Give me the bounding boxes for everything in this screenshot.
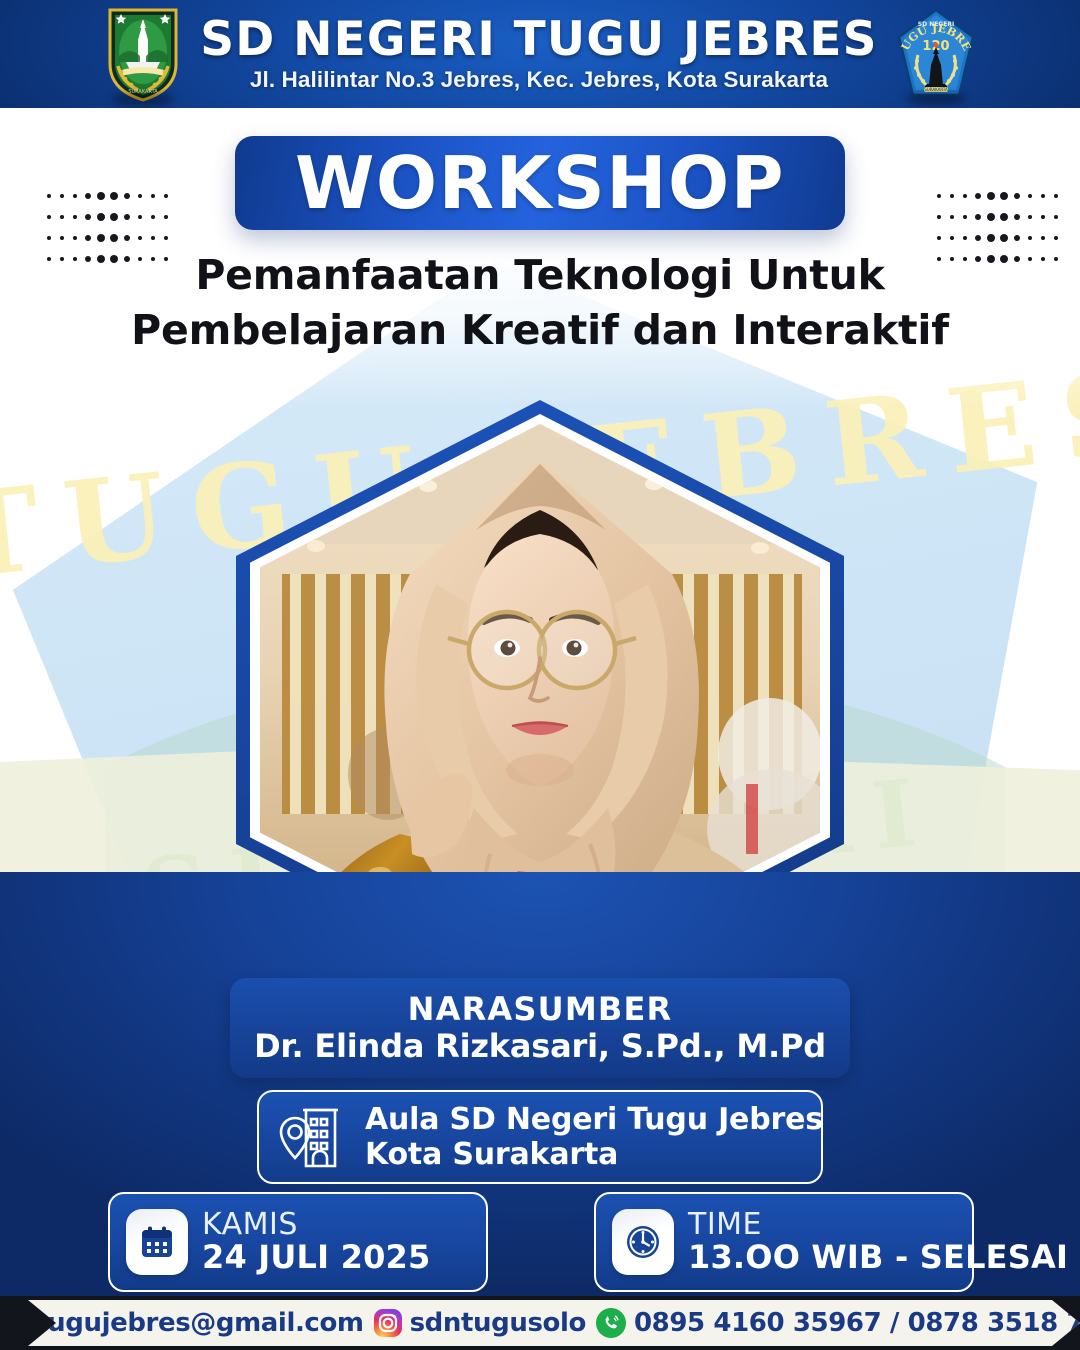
- footer-contact-bar: sdntugujebres@gmail.com sdnt: [0, 1300, 1080, 1346]
- school-header-bar: SURAKARTA SD NEGERI TUGU JEBRES Jl. Hali…: [0, 0, 1080, 108]
- clock-icon-badge: [612, 1209, 674, 1275]
- venue-text-block: Aula SD Negeri Tugu Jebres Kota Surakart…: [365, 1102, 823, 1173]
- tugu-jebres-school-logo-icon: SD NEGERI TUGU JEBRES 120: [896, 7, 976, 101]
- workshop-badge-label: WORKSHOP: [295, 147, 785, 219]
- time-text-block: TIME 13.OO WIB - SELESAI: [688, 1209, 1068, 1275]
- subtitle-line-2: Pembelajaran Kreatif dan Interaktif: [0, 303, 1080, 358]
- footer-instagram[interactable]: sdntugusolo: [373, 1308, 586, 1338]
- venue-line-1: Aula SD Negeri Tugu Jebres: [365, 1102, 823, 1137]
- venue-line-2: Kota Surakarta: [365, 1137, 823, 1172]
- school-address: Jl. Halilintar No.3 Jebres, Kec. Jebres,…: [250, 69, 828, 92]
- calendar-icon-badge: [126, 1209, 188, 1275]
- date-text-block: KAMIS 24 JULI 2025: [202, 1209, 430, 1275]
- footer-instagram-text: sdntugusolo: [410, 1308, 586, 1338]
- city-emblem-svg: SURAKARTA: [104, 6, 182, 102]
- building-location-pin-icon: [279, 1104, 349, 1170]
- footer-phone-text: 0895 4160 35967 / 0878 3518 7571: [634, 1308, 1080, 1338]
- venue-box: Aula SD Negeri Tugu Jebres Kota Surakart…: [257, 1090, 823, 1184]
- speaker-panel: NARASUMBER Dr. Elinda Rizkasari, S.Pd., …: [230, 978, 850, 1078]
- surakarta-city-emblem-icon: SURAKARTA: [104, 6, 182, 102]
- date-box: KAMIS 24 JULI 2025: [108, 1192, 488, 1292]
- instagram-icon: [373, 1308, 403, 1338]
- whatsapp-icon: [595, 1307, 627, 1339]
- footer-whatsapp[interactable]: 0895 4160 35967 / 0878 3518 7571: [595, 1307, 1080, 1339]
- calendar-icon: [139, 1224, 175, 1260]
- school-name-title: SD NEGERI TUGU JEBRES: [200, 16, 878, 63]
- time-value: 13.OO WIB - SELESAI: [688, 1241, 1068, 1275]
- school-logo-svg: SD NEGERI TUGU JEBRES 120: [896, 7, 976, 101]
- subtitle-line-1: Pemanfaatan Teknologi Untuk: [0, 248, 1080, 303]
- date-label: KAMIS: [202, 1209, 430, 1241]
- emblem-shadow: [112, 92, 174, 106]
- workshop-subtitle: Pemanfaatan Teknologi Untuk Pembelajaran…: [0, 248, 1080, 359]
- speaker-role-label: NARASUMBER: [408, 992, 673, 1027]
- workshop-badge: WORKSHOP: [235, 136, 845, 230]
- header-text-block: SD NEGERI TUGU JEBRES Jl. Halilintar No.…: [200, 16, 878, 92]
- poster-root: TUGU JEBRES SD NEGERI: [0, 0, 1080, 1350]
- time-label: TIME: [688, 1209, 1068, 1241]
- speaker-name: Dr. Elinda Rizkasari, S.Pd., M.Pd: [254, 1029, 826, 1064]
- date-value: 24 JULI 2025: [202, 1241, 430, 1275]
- logo-shadow: [906, 92, 966, 105]
- clock-icon: [624, 1223, 662, 1261]
- time-box: TIME 13.OO WIB - SELESAI: [594, 1192, 974, 1292]
